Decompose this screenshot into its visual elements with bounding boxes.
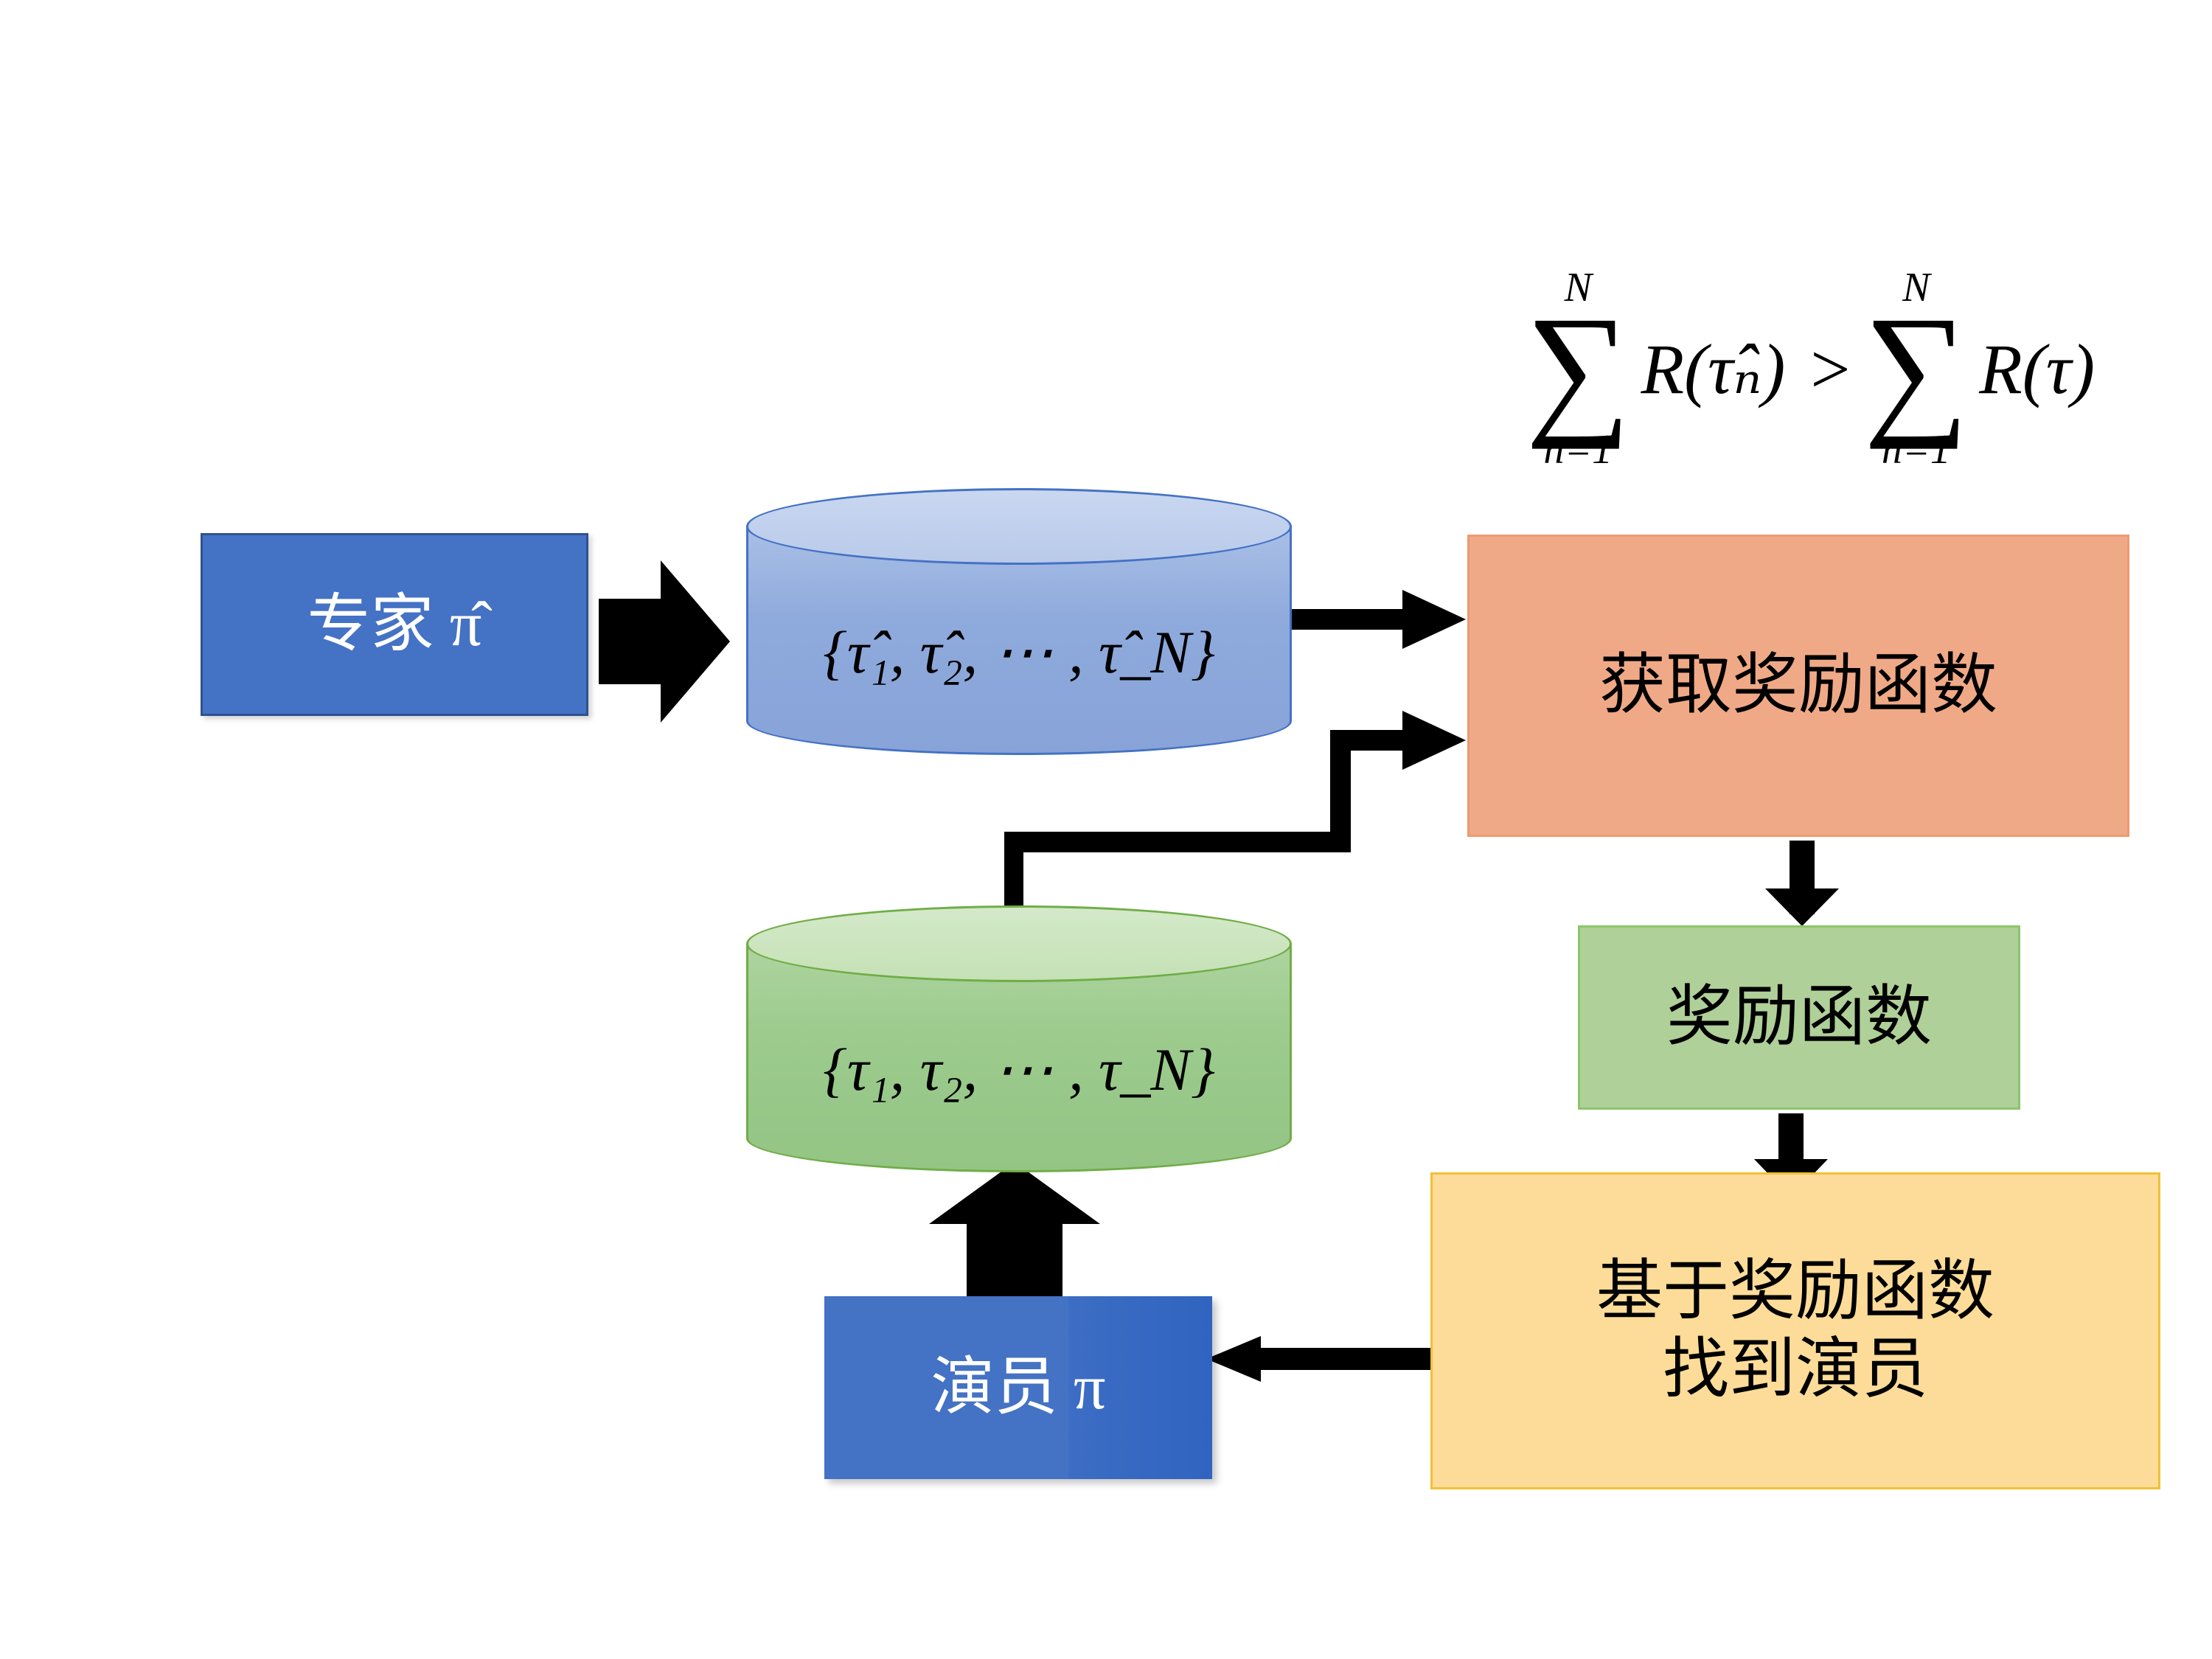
expert-trajectories-node[interactable]: {τ̂₁, τ̂₂, ⋯ , τ̂_N} bbox=[746, 488, 1292, 783]
expert-trajectories-label: {τ̂₁, τ̂₂, ⋯ , τ̂_N} bbox=[746, 617, 1292, 687]
edge-expert-trajectories-to-reward-acquire-icon bbox=[1284, 590, 1466, 649]
find-actor-label-line1: 基于奖励函数 bbox=[1596, 1253, 1994, 1331]
right-sum-lower-limit: n=1 bbox=[1882, 429, 1951, 470]
right-sum-sigma-icon: ∑ bbox=[1864, 308, 1969, 429]
reward-function-label: 奖励函数 bbox=[1666, 978, 1932, 1057]
expert-cylinder-top bbox=[746, 488, 1292, 565]
left-summation: N ∑ n=1 bbox=[1526, 267, 1631, 470]
diagram-canvas: N ∑ n=1 R(τ̂ₙ) > N ∑ n=1 R(τ) 专家 π̂ {τ̂₁… bbox=[0, 0, 2212, 1659]
edge-reward-acquire-to-reward-function-icon bbox=[1765, 841, 1839, 926]
left-sum-lower-limit: n=1 bbox=[1543, 429, 1613, 470]
formula-relation: > bbox=[1810, 328, 1850, 410]
actor-trajectories-node[interactable]: {τ₁, τ₂, ⋯ , τ_N} bbox=[746, 905, 1292, 1200]
left-sum-sigma-icon: ∑ bbox=[1526, 308, 1631, 429]
reward-function-node[interactable]: 奖励函数 bbox=[1578, 925, 2020, 1110]
right-summation: N ∑ n=1 bbox=[1864, 267, 1969, 470]
find-actor-node[interactable]: 基于奖励函数 找到演员 bbox=[1430, 1172, 2160, 1489]
actor-cylinder-top bbox=[746, 905, 1292, 982]
expert-node-label: 专家 π̂ bbox=[307, 587, 482, 661]
left-sum-term: R(τ̂ₙ) bbox=[1641, 327, 1786, 410]
edge-expert-to-expert-trajectories-icon bbox=[599, 560, 730, 723]
right-sum-term: R(τ) bbox=[1979, 328, 2095, 410]
reward-acquire-label: 获取奖励函数 bbox=[1599, 647, 1997, 725]
edge-find-actor-to-actor-icon bbox=[1206, 1336, 1430, 1382]
expert-node[interactable]: 专家 π̂ bbox=[201, 533, 588, 716]
actor-node-label: 演员 π bbox=[931, 1350, 1106, 1425]
reward-comparison-formula: N ∑ n=1 R(τ̂ₙ) > N ∑ n=1 R(τ) bbox=[1438, 221, 2183, 516]
reward-acquire-node[interactable]: 获取奖励函数 bbox=[1467, 535, 2129, 837]
find-actor-label-line2: 找到演员 bbox=[1663, 1331, 1928, 1409]
actor-node[interactable]: 演员 π bbox=[824, 1296, 1212, 1479]
actor-trajectories-label: {τ₁, τ₂, ⋯ , τ_N} bbox=[746, 1034, 1292, 1105]
